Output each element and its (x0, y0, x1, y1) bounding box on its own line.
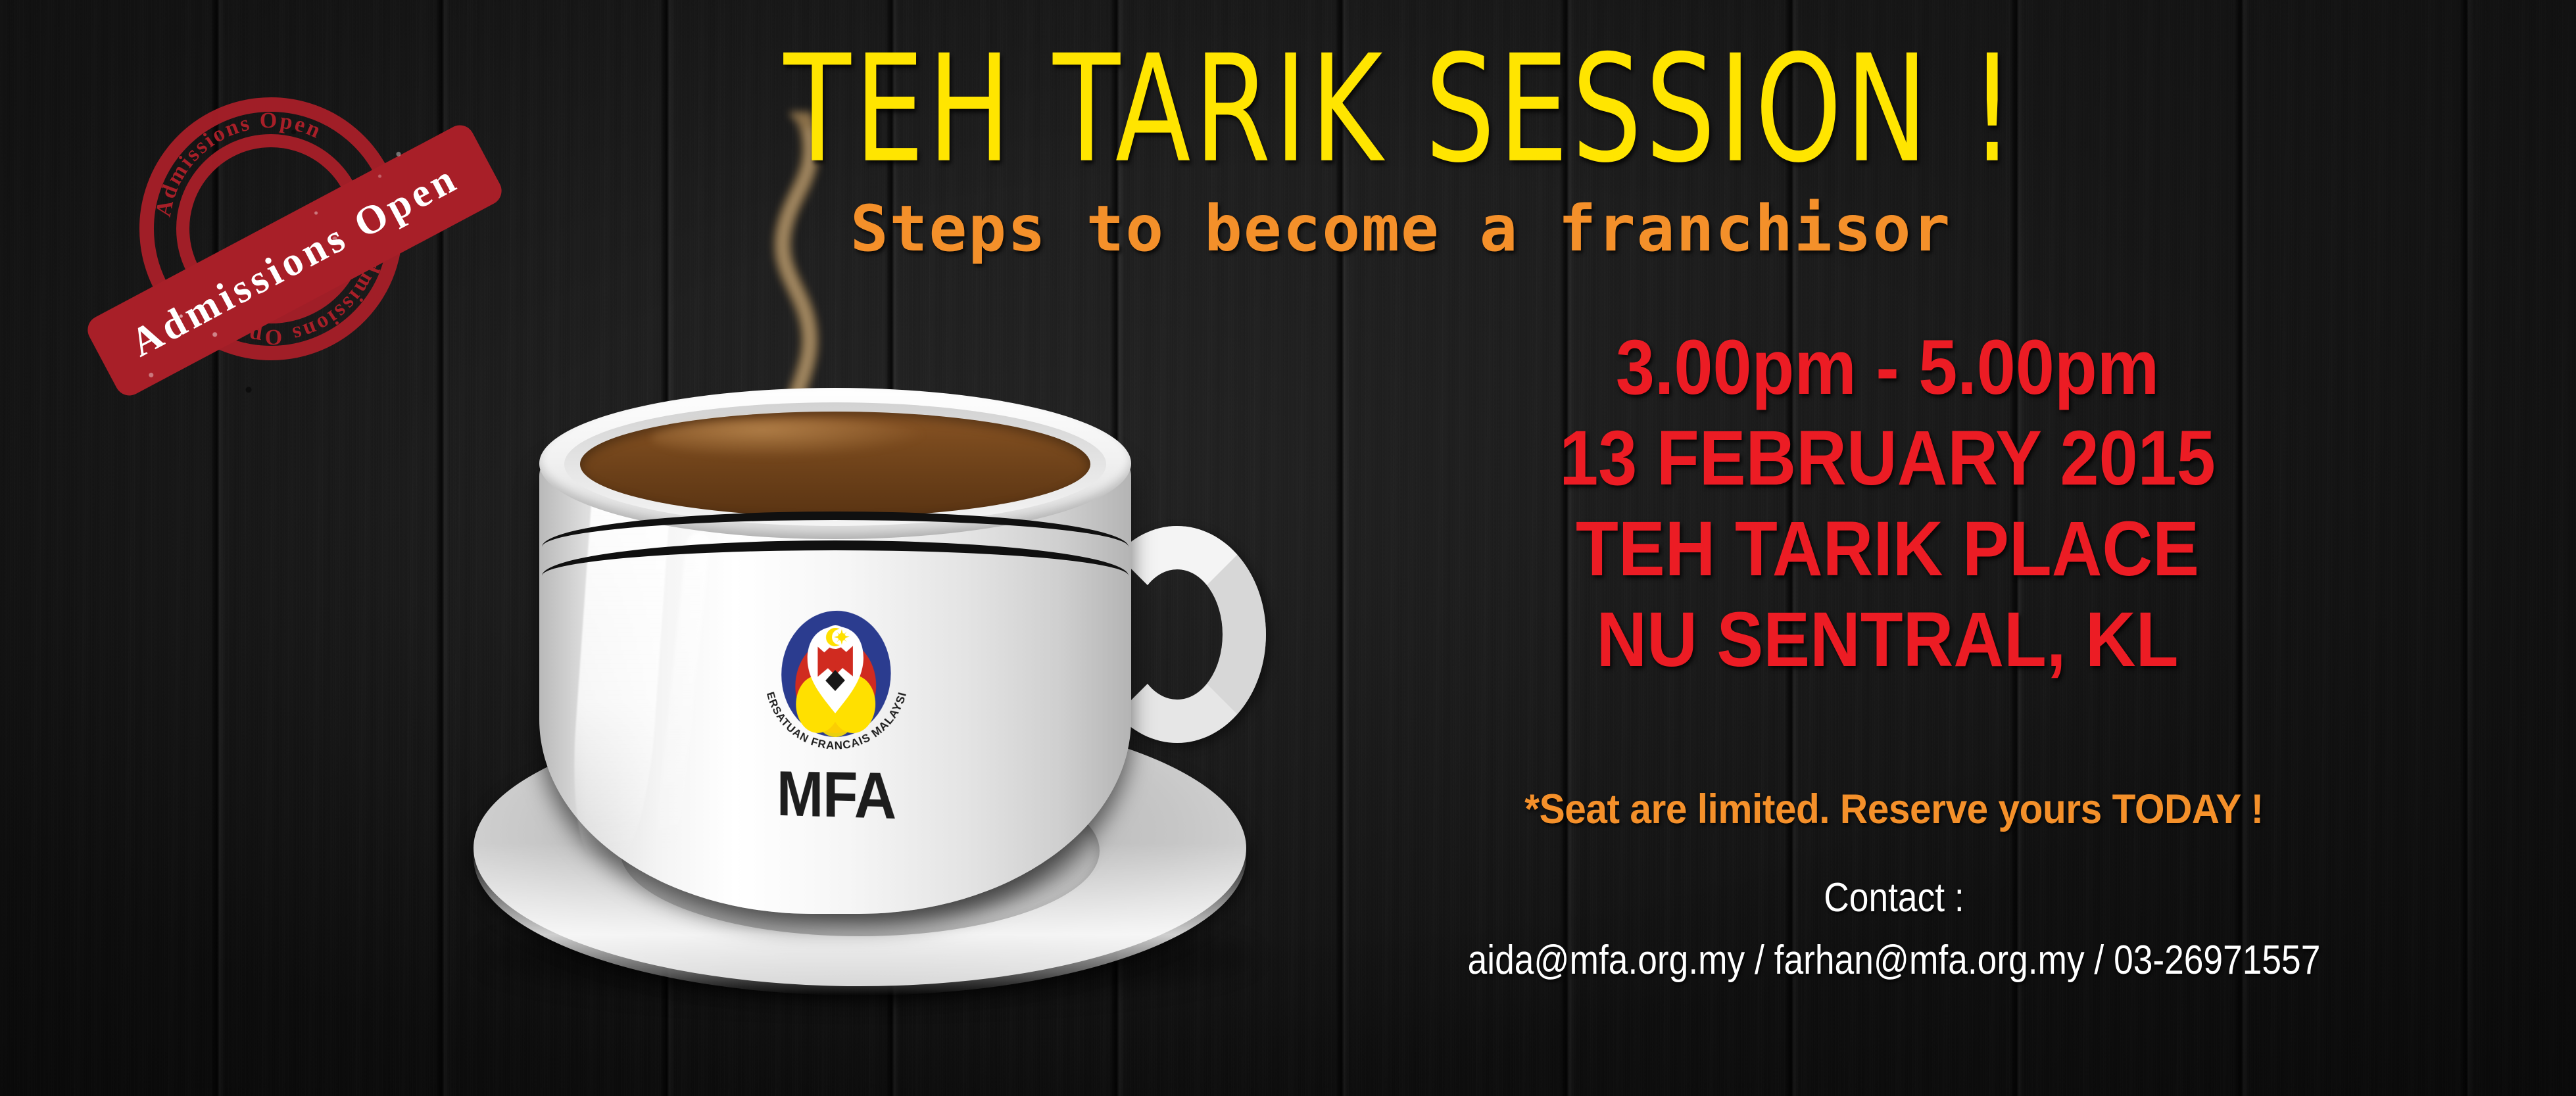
event-details: 3.00pm - 5.00pm 13 FEBRUARY 2015 TEH TAR… (1467, 322, 2308, 685)
event-date: 13 FEBRUARY 2015 (1509, 413, 2266, 504)
admissions-open-stamp: Admissions Open Admissions Open Admissio… (99, 66, 474, 434)
contact-label: Contact : (1430, 874, 2358, 921)
contact-details: aida@mfa.org.my / farhan@mfa.org.my / 03… (1430, 937, 2358, 984)
teh-tarik-session-banner: Admissions Open Admissions Open Admissio… (0, 0, 2576, 1096)
mfa-acronym: MFA (756, 761, 919, 830)
event-venue: TEH TARIK PLACE (1509, 504, 2266, 594)
event-time: 3.00pm - 5.00pm (1509, 322, 2266, 413)
mfa-logo: PERSATUAN FRANCAIS MALAYSIA MFA (756, 606, 919, 828)
page-title: TEH TARIK SESSION ! (685, 36, 2116, 184)
page-subtitle: Steps to become a franchisor (631, 197, 2170, 260)
tea-surface-sheen (651, 418, 927, 458)
teh-tarik-cup-illustration: PERSATUAN FRANCAIS MALAYSIA MFA (454, 348, 1302, 1026)
svg-text:PERSATUAN FRANCAIS MALAYSIA: PERSATUAN FRANCAIS MALAYSIA (756, 654, 909, 753)
seats-limited-note: *Seat are limited. Reserve yours TODAY ! (1392, 786, 2395, 833)
stamp-arc-text-top: Admissions Open (128, 76, 333, 227)
event-location: NU SENTRAL, KL (1509, 594, 2266, 685)
